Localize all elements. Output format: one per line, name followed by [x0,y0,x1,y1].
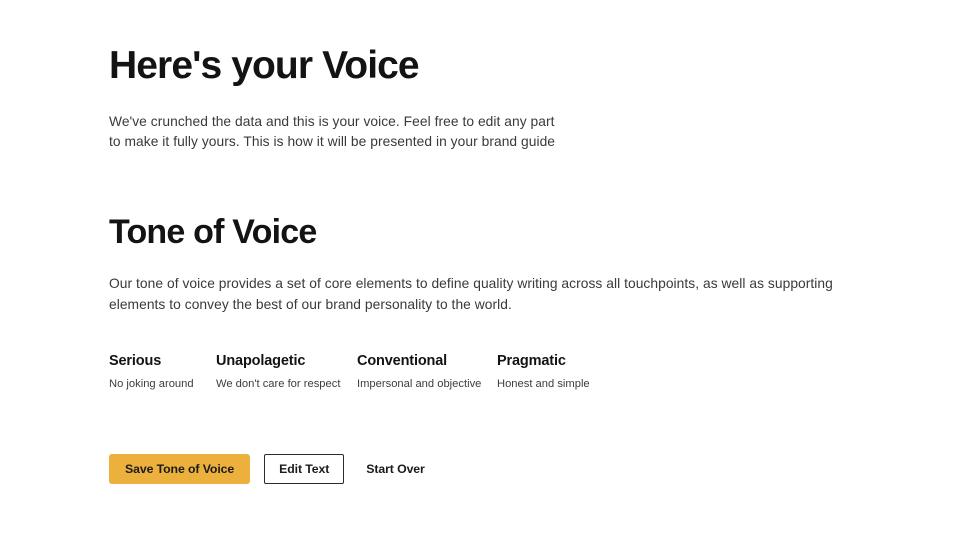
tone-attribute-name: Conventional [357,353,479,369]
tone-attribute-description: Impersonal and objective [357,377,479,392]
tone-attribute-description: We don't care for respect [216,377,339,392]
tone-attribute-description: Honest and simple [497,377,639,392]
tone-attribute-name: Serious [109,353,198,369]
action-bar: Save Tone of Voice Edit Text Start Over [109,454,960,484]
start-over-button[interactable]: Start Over [366,454,424,484]
tone-attribute-list: Serious No joking around Unapolagetic We… [109,353,960,392]
tone-attribute-pragmatic: Pragmatic Honest and simple [497,353,657,392]
tone-attribute-conventional: Conventional Impersonal and objective [357,353,497,392]
tone-attribute-description: No joking around [109,377,198,392]
voice-result-page: Here's your Voice We've crunched the dat… [0,0,960,552]
tone-of-voice-section: Tone of Voice Our tone of voice provides… [109,214,960,392]
intro-section: Here's your Voice We've crunched the dat… [109,0,960,152]
tone-attribute-serious: Serious No joking around [109,353,216,392]
page-title: Here's your Voice [109,44,960,88]
edit-text-button[interactable]: Edit Text [264,454,344,484]
tone-attribute-unapolagetic: Unapolagetic We don't care for respect [216,353,357,392]
intro-description: We've crunched the data and this is your… [109,112,559,152]
tone-of-voice-heading: Tone of Voice [109,214,960,251]
tone-attribute-name: Pragmatic [497,353,639,369]
save-tone-of-voice-button[interactable]: Save Tone of Voice [109,454,250,484]
tone-attribute-name: Unapolagetic [216,353,339,369]
tone-of-voice-description: Our tone of voice provides a set of core… [109,273,851,315]
